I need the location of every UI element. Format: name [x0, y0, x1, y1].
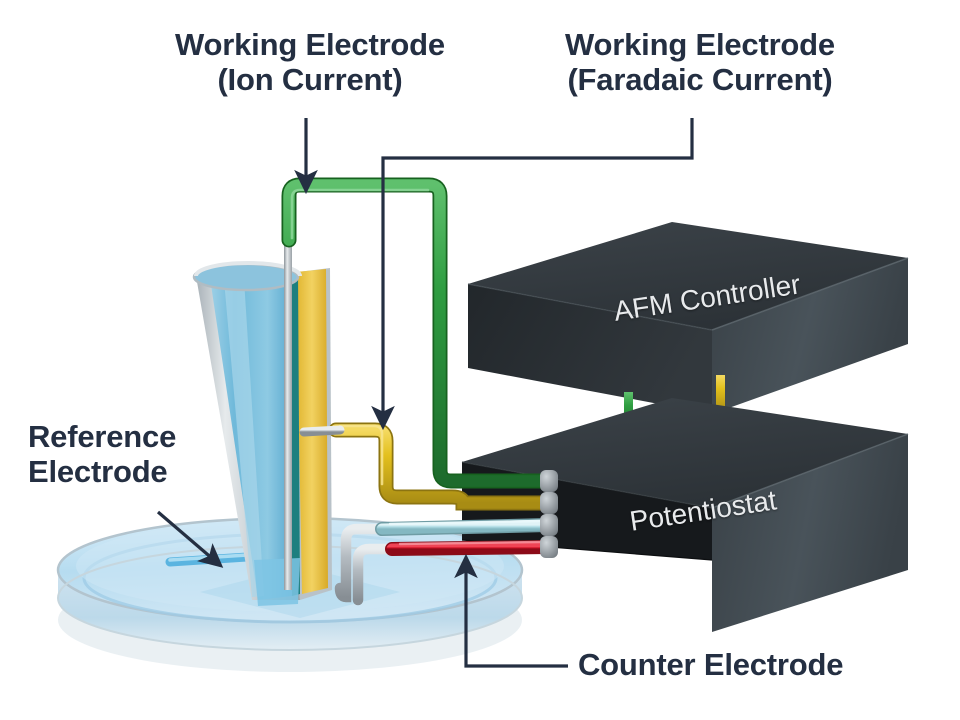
port-4 [540, 536, 558, 558]
pipette-tip [254, 558, 300, 606]
label-counter-electrode: Counter Electrode [578, 648, 958, 683]
setup-illustration [0, 0, 960, 720]
diagram-canvas: Working Electrode (Ion Current) Working … [0, 0, 960, 720]
port-3 [540, 514, 558, 536]
label-reference-electrode: Reference Electrode [28, 420, 328, 489]
port-1 [540, 470, 558, 492]
internal-metal-wire [284, 190, 292, 590]
label-working-electrode-faradaic: Working Electrode (Faradaic Current) [500, 28, 900, 97]
afm-controller[interactable] [468, 222, 908, 414]
label-working-electrode-ion: Working Electrode (Ion Current) [130, 28, 490, 97]
port-2 [540, 492, 558, 514]
